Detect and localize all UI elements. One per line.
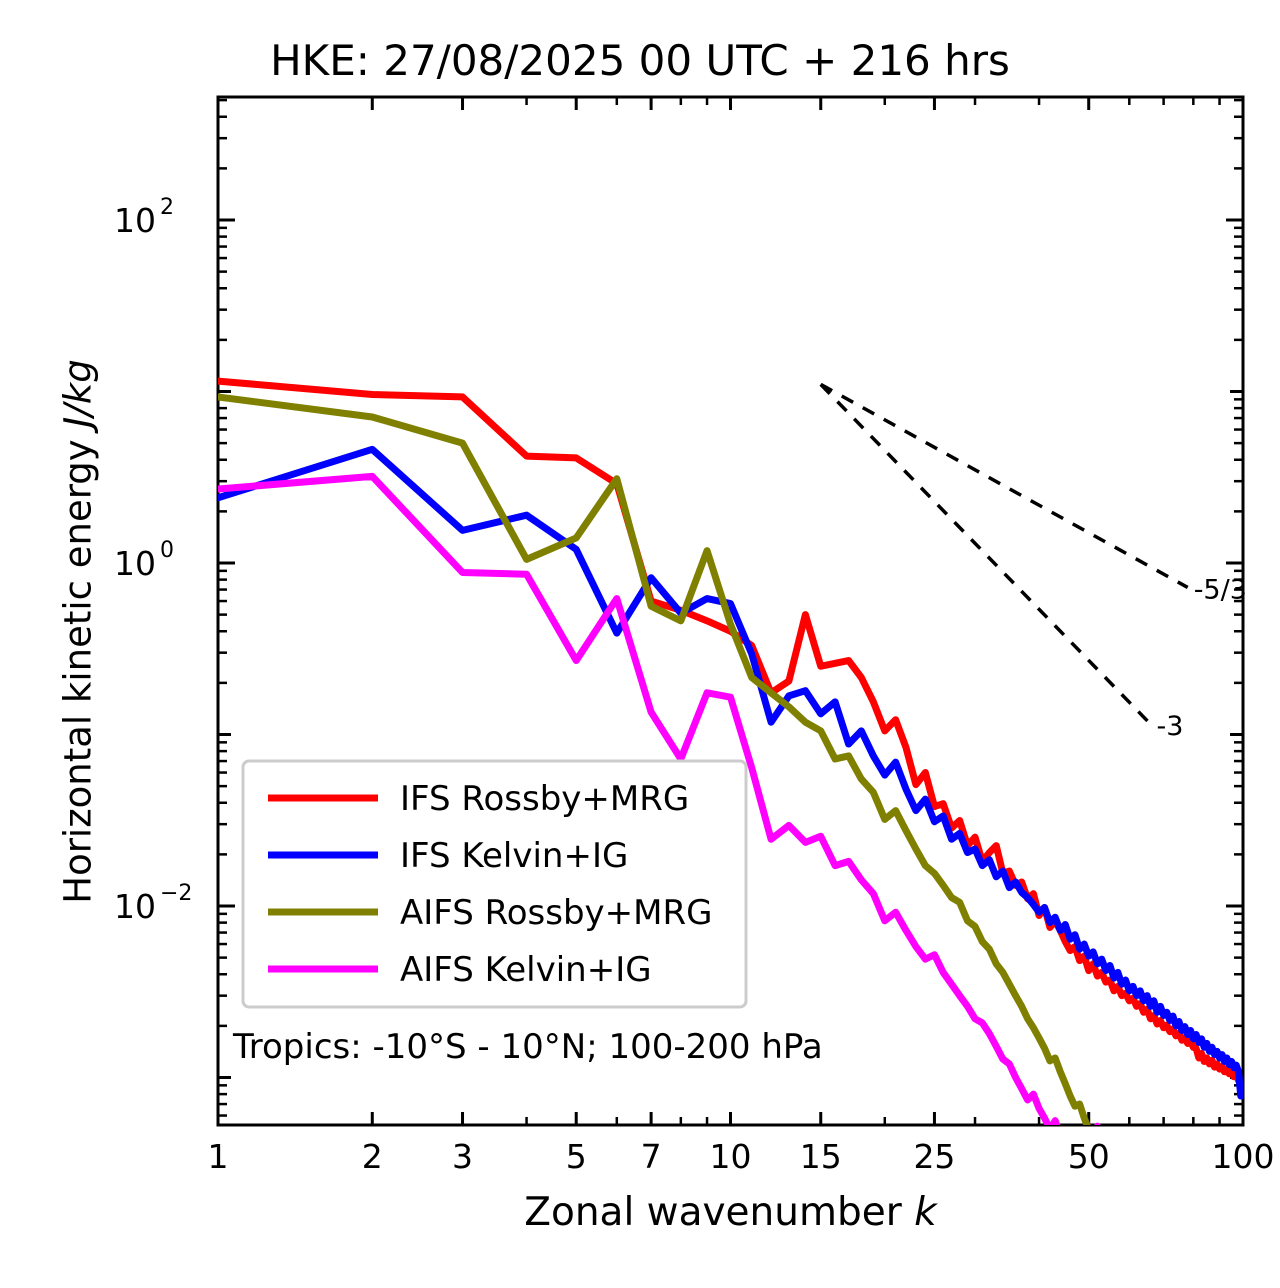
y-tick-label-exponent: −2 [160,881,192,906]
y-tick-label: 102 [114,195,174,240]
x-tick-label: 50 [1068,1137,1110,1176]
chart-canvas: 123571015255010010210010−2 -5/3-3 IFS Ro… [0,0,1280,1288]
reference-slope-label: -3 [1157,711,1184,742]
x-tick-label: 1 [208,1137,229,1176]
legend-label: IFS Kelvin+IG [400,836,628,876]
y-tick-label-mantissa: 10 [114,887,156,926]
y-tick-label-mantissa: 10 [114,544,156,583]
legend-label: AIFS Kelvin+IG [400,950,652,990]
y-tick-label-mantissa: 10 [114,201,156,240]
x-tick-label: 2 [362,1137,383,1176]
x-tick-label: 25 [913,1137,955,1176]
y-tick-label-exponent: 2 [160,195,174,220]
x-tick-label: 100 [1212,1137,1275,1176]
reference-slope-label: -5/3 [1194,574,1247,605]
x-axis-label-text: Zonal wavenumber [524,1190,914,1235]
region-annotation: Tropics: -10°S - 10°N; 100-200 hPa [232,1027,823,1067]
figure-root: HKE: 27/08/2025 00 UTC + 216 hrs 1235710… [0,0,1280,1288]
x-axis-label: Zonal wavenumber k [218,1190,1243,1235]
x-tick-label: 10 [710,1137,752,1176]
legend-label: AIFS Rossby+MRG [400,893,712,933]
x-tick-label: 5 [566,1137,587,1176]
y-tick-label-exponent: 0 [160,538,174,563]
x-tick-label: 15 [800,1137,842,1176]
y-tick-label: 100 [114,538,174,583]
x-axis-label-symbol: k [914,1190,937,1235]
legend[interactable]: IFS Rossby+MRGIFS Kelvin+IGAIFS Rossby+M… [243,761,746,1007]
y-tick-label: 10−2 [114,881,192,926]
legend-label: IFS Rossby+MRG [400,779,689,819]
x-tick-label: 7 [641,1137,662,1176]
x-tick-label: 3 [452,1137,473,1176]
